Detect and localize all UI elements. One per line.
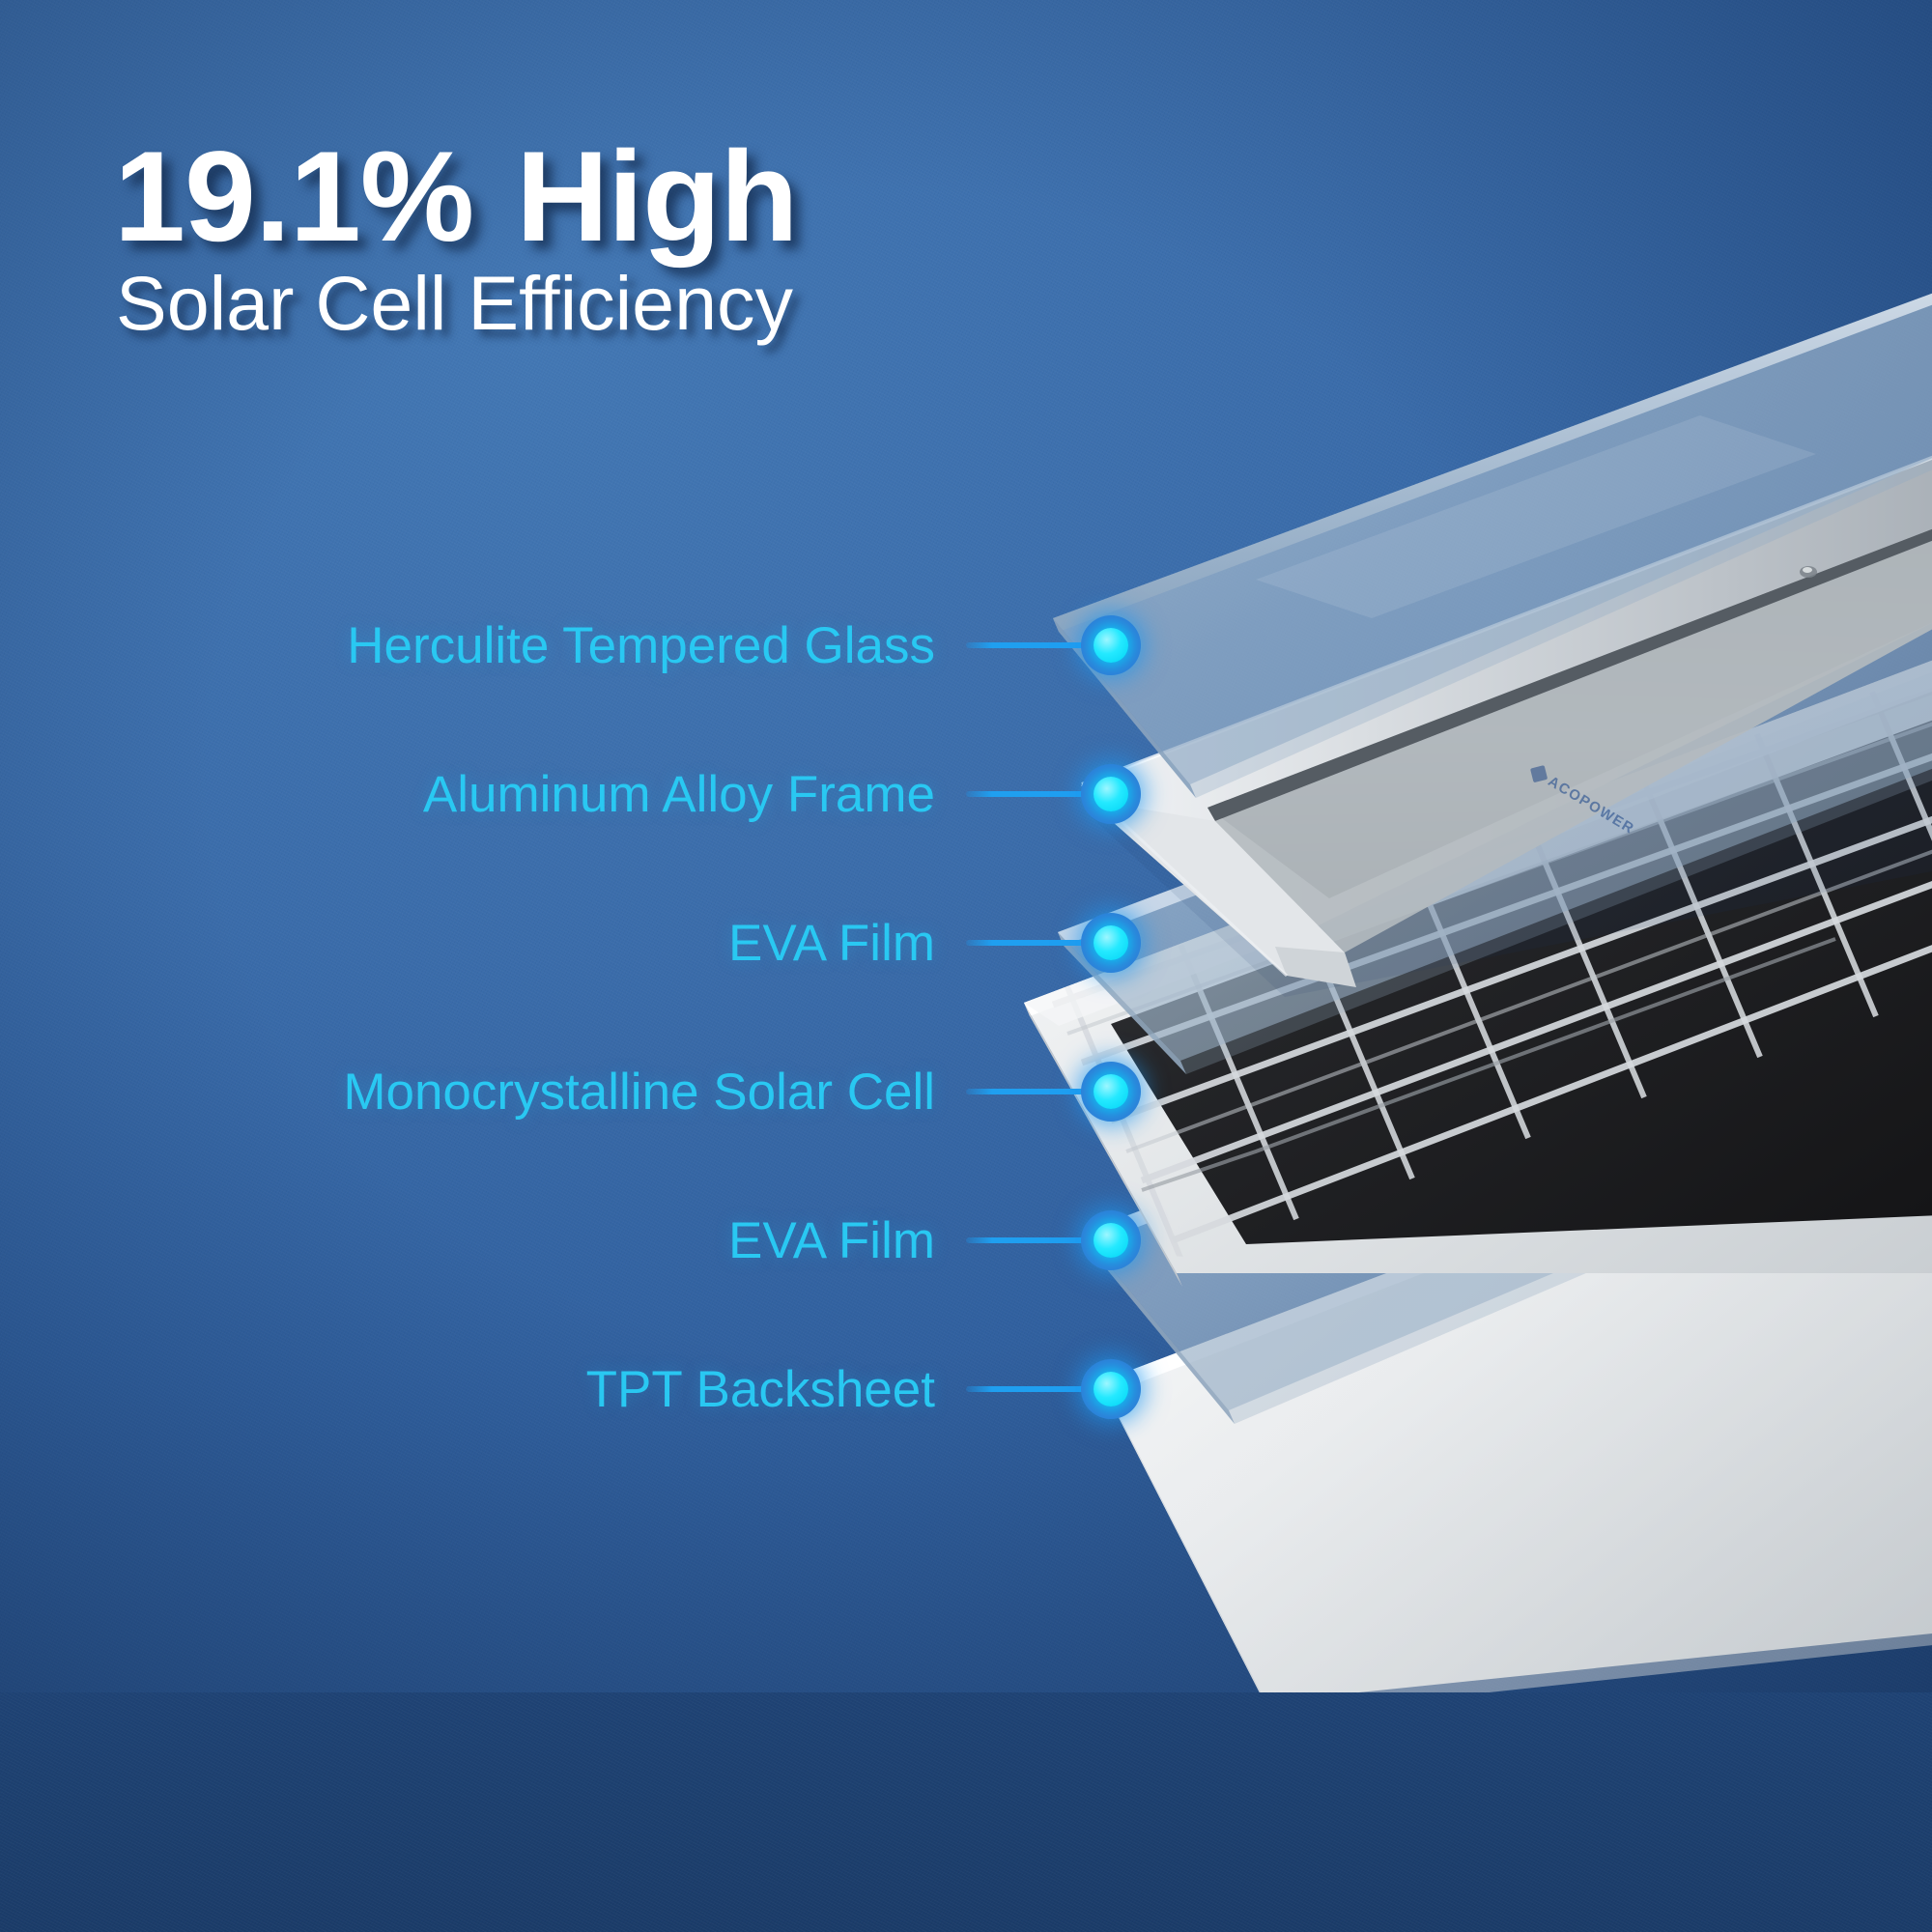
callout-label: EVA Film <box>728 914 935 973</box>
bottom-band-texture <box>0 1692 1932 1932</box>
callout-dot-icon[interactable] <box>1081 1359 1141 1419</box>
page-title: 19.1%High <box>114 124 798 270</box>
brand-diamond-icon <box>1530 765 1548 782</box>
callout-dot-icon[interactable] <box>1081 1062 1141 1122</box>
callout-label: Aluminum Alloy Frame <box>423 765 935 824</box>
callout-dot-icon[interactable] <box>1081 764 1141 824</box>
headline-efficiency-value: 19.1% <box>114 126 473 269</box>
headline-high-word: High <box>516 126 797 269</box>
callout-dot-icon[interactable] <box>1081 615 1141 675</box>
callout-label: TPT Backsheet <box>586 1360 935 1419</box>
callout-dot-icon[interactable] <box>1081 1210 1141 1270</box>
callout-label: EVA Film <box>728 1211 935 1270</box>
callout-label: Herculite Tempered Glass <box>347 616 935 675</box>
page-subtitle: Solar Cell Efficiency <box>116 259 793 348</box>
callout-dot-icon[interactable] <box>1081 913 1141 973</box>
bottom-band <box>0 1692 1932 1932</box>
callout-label: Monocrystalline Solar Cell <box>343 1063 935 1122</box>
